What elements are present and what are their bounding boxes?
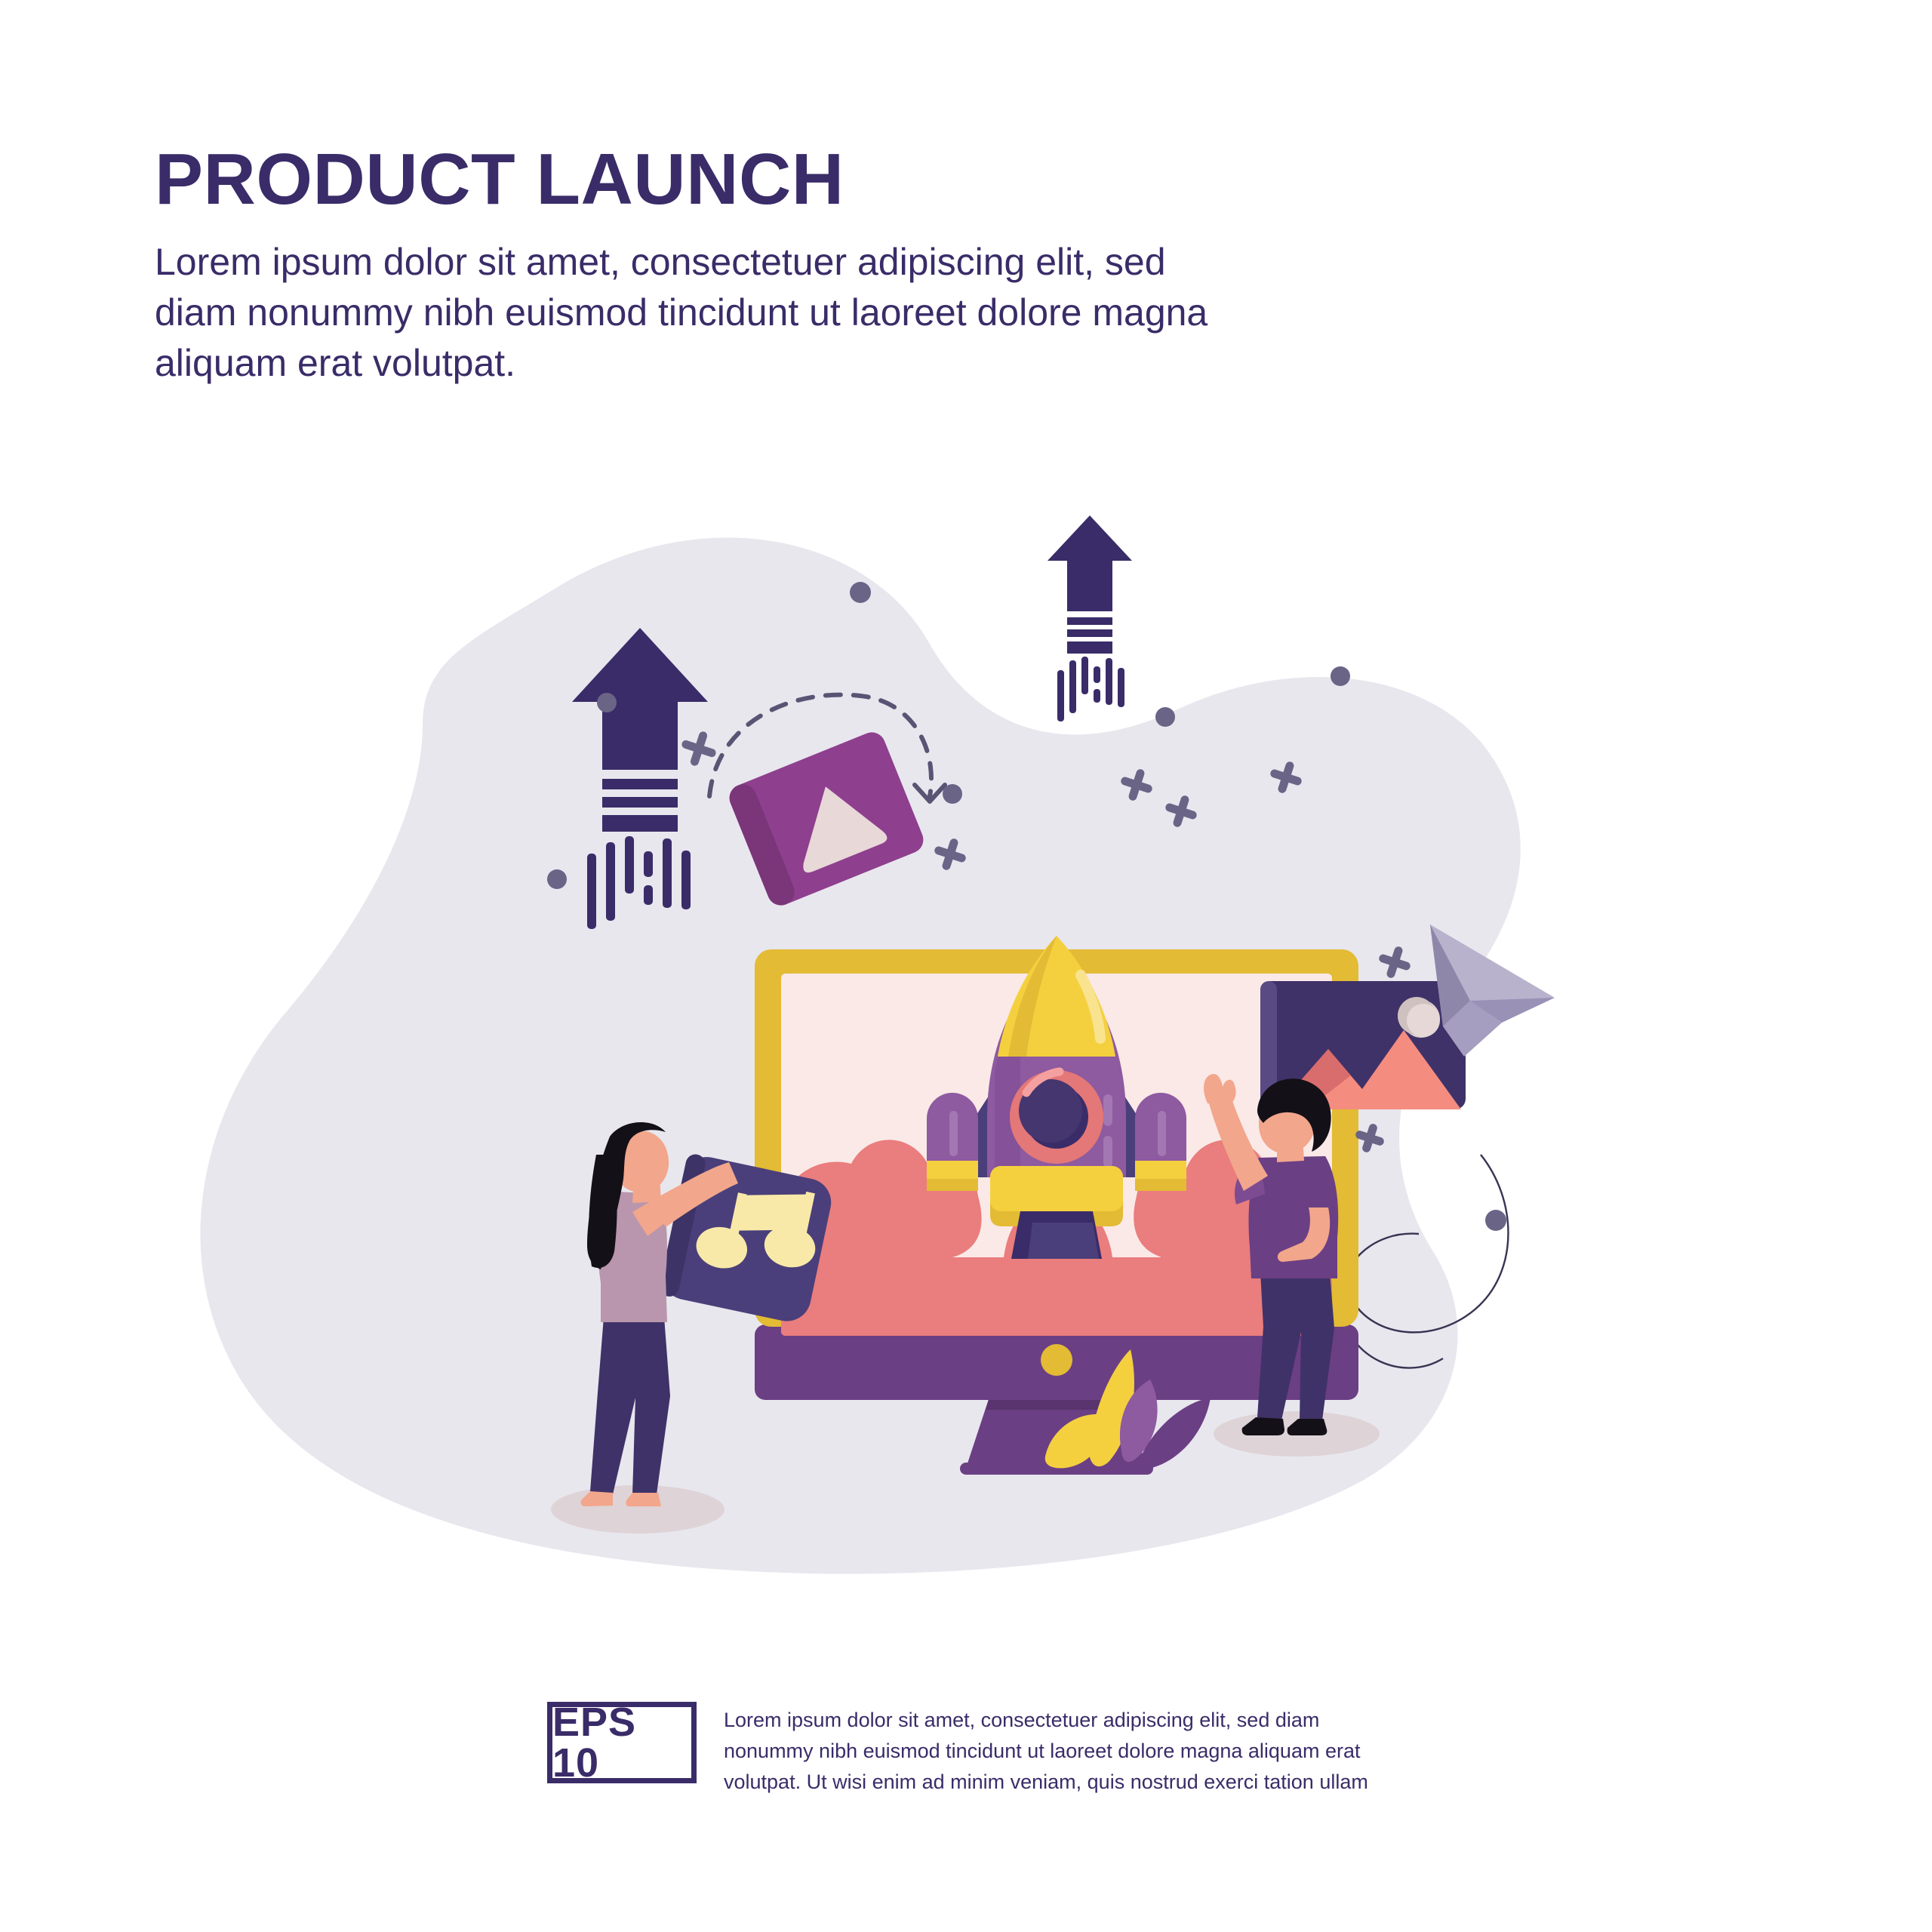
footer-description: Lorem ipsum dolor sit amet, consectetuer… bbox=[724, 1702, 1388, 1798]
header-block: PRODUCT LAUNCH Lorem ipsum dolor sit ame… bbox=[155, 143, 1226, 389]
page-title: PRODUCT LAUNCH bbox=[155, 143, 1226, 216]
monitor-power-dot bbox=[1041, 1344, 1072, 1376]
footer-block: EPS 10 Lorem ipsum dolor sit amet, conse… bbox=[547, 1702, 1388, 1798]
product-launch-illustration bbox=[0, 453, 1932, 1660]
rocket-booster-right bbox=[1135, 1093, 1186, 1191]
music-card-icon bbox=[658, 1152, 836, 1325]
rocket-booster-left bbox=[927, 1093, 978, 1191]
eps-badge-label: EPS 10 bbox=[552, 1702, 691, 1783]
page-subtitle: Lorem ipsum dolor sit amet, consectetuer… bbox=[155, 237, 1211, 389]
upload-arrow-top-icon bbox=[1048, 515, 1132, 721]
eps-badge: EPS 10 bbox=[547, 1702, 697, 1783]
